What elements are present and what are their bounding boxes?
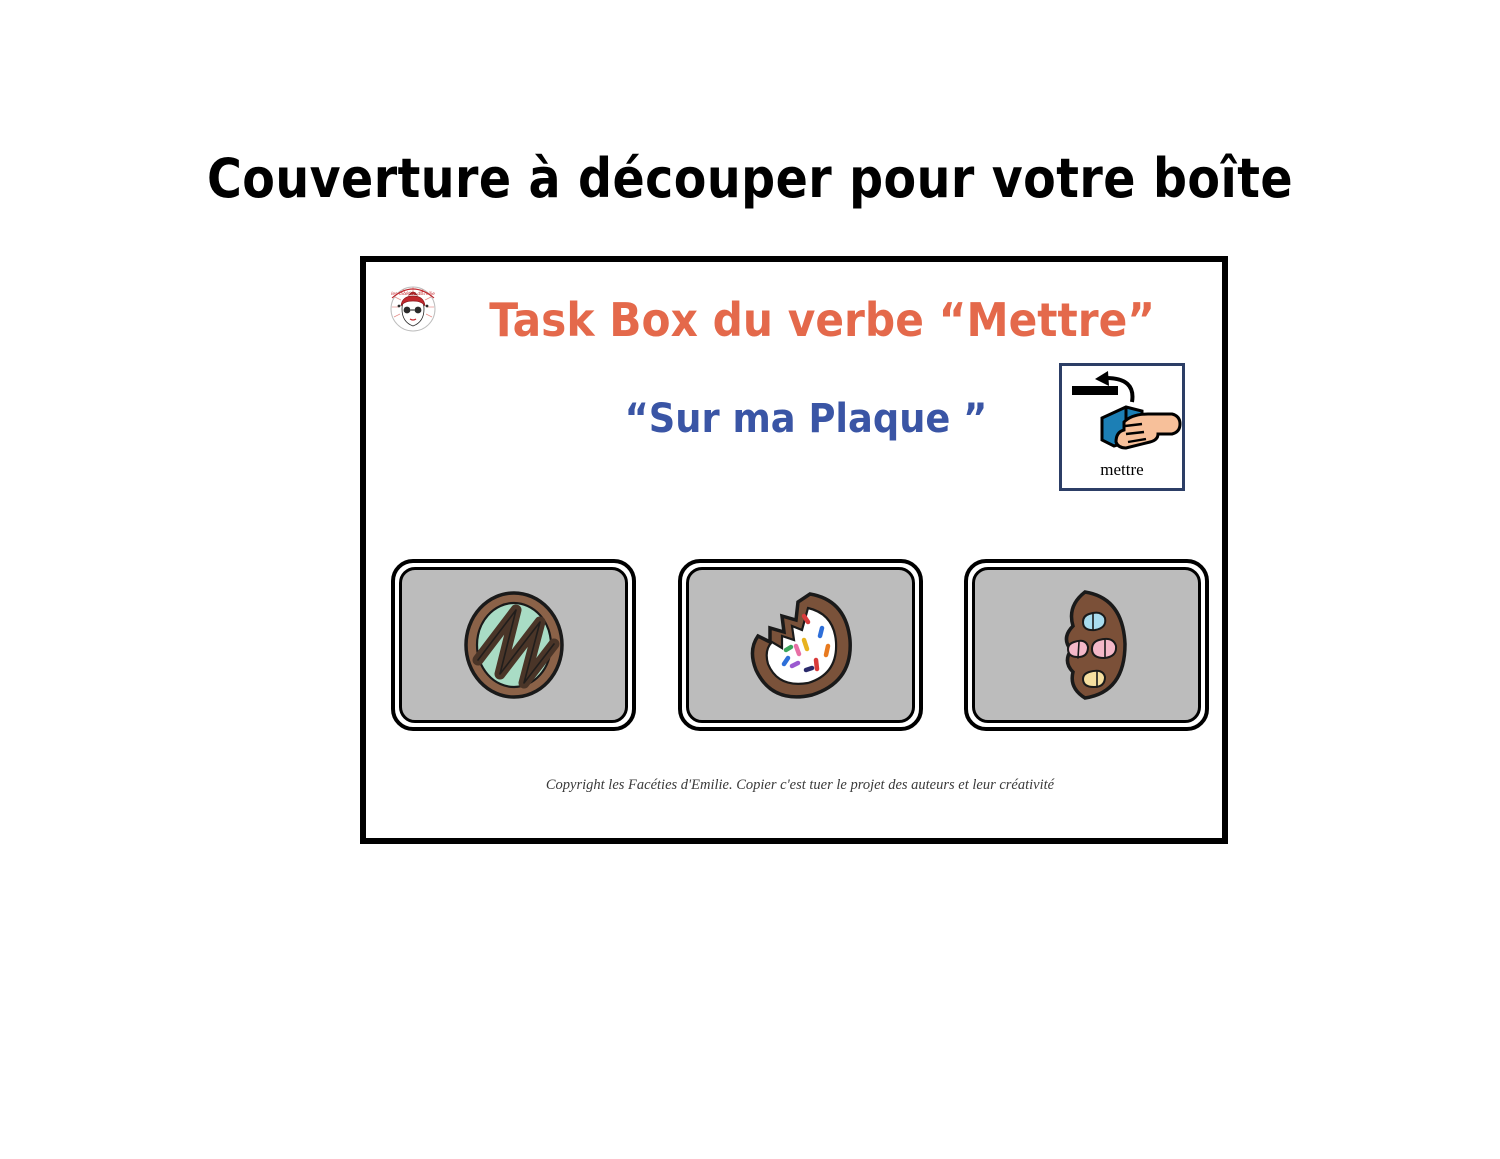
bitten-frosted-sprinkle-cookie-icon <box>740 584 860 706</box>
item-card-mint-drizzle-cookie[interactable] <box>391 559 636 731</box>
page-title: Couverture à découper pour votre boîte <box>90 148 1410 210</box>
pictogram-label: mettre <box>1062 460 1182 480</box>
item-cards-row <box>391 559 1209 731</box>
half-eaten-marshmallow-cookie-icon <box>1027 584 1147 706</box>
pictogram-card: mettre <box>1059 363 1185 491</box>
item-card-half-eaten-marshmallow-cookie[interactable] <box>964 559 1209 731</box>
card-subtitle: “Sur ma Plaque ” <box>539 394 1073 444</box>
cover-card: les facéties d'Emilie Task Box du verbe … <box>360 256 1228 844</box>
card-title: Task Box du verbe “Mettre” <box>489 292 1115 348</box>
item-card-inner <box>686 567 915 723</box>
item-card-bitten-frosted-sprinkle-cookie[interactable] <box>678 559 923 731</box>
item-card-inner <box>972 567 1201 723</box>
mint-drizzle-cookie-icon <box>454 584 574 706</box>
item-card-inner <box>399 567 628 723</box>
hand-placing-object-icon <box>1062 366 1182 458</box>
copyright-notice: Copyright les Facéties d'Emilie. Copier … <box>366 776 1234 794</box>
brand-badge-icon: les facéties d'Emilie <box>382 276 444 338</box>
